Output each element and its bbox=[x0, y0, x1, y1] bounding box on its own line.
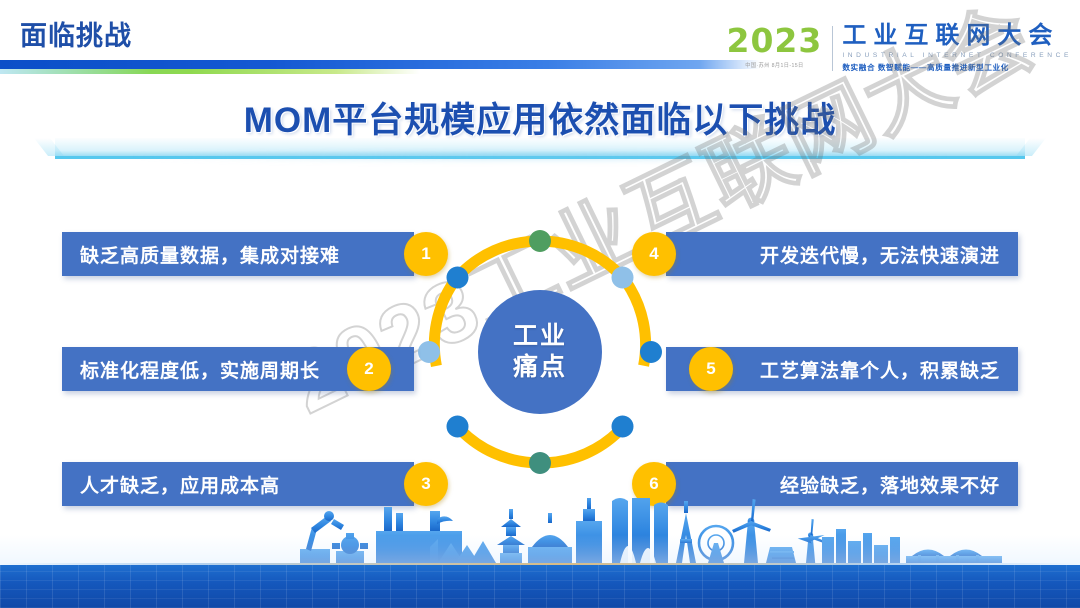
pain-point-number-1: 1 bbox=[404, 232, 448, 276]
header-rule-cyan bbox=[0, 69, 150, 74]
pain-point-label-2: 标准化程度低，实施周期长 bbox=[80, 356, 320, 383]
center-label-line1: 工业 bbox=[513, 321, 567, 352]
pain-point-number-4: 4 bbox=[632, 232, 676, 276]
section-title: 面临挑战 bbox=[20, 14, 132, 53]
ring-arc-6 bbox=[461, 241, 533, 273]
pain-point-bar-1[interactable]: 缺乏高质量数据，集成对接难 bbox=[62, 232, 414, 276]
page-title: MOM平台规模应用依然面临以下挑战 bbox=[0, 92, 1080, 143]
pain-point-label-5: 工艺算法靠个人，积累缺乏 bbox=[760, 356, 1000, 383]
ring-dot-bottom-green bbox=[529, 452, 551, 474]
pain-points-diagram: 工业 痛点 缺乏高质量数据，集成对接难 标准化程度低，实施周期长 人才缺乏，应用… bbox=[0, 180, 1080, 520]
header-rule-blue bbox=[0, 60, 760, 69]
logo-divider bbox=[832, 26, 833, 71]
pain-point-number-5: 5 bbox=[689, 347, 733, 391]
footer-graphic bbox=[0, 498, 1080, 608]
logo-year-subtext: 中国·苏州 8月1日-15日 bbox=[727, 62, 823, 69]
pain-point-number-2: 2 bbox=[347, 347, 391, 391]
pain-point-label-1: 缺乏高质量数据，集成对接难 bbox=[80, 241, 340, 268]
ring-dot-right-blue bbox=[640, 341, 662, 363]
ring-arc-3 bbox=[547, 431, 619, 463]
ring-arc-4 bbox=[461, 431, 532, 463]
logo-name-cn: 工业互联网大会 bbox=[842, 24, 1072, 48]
title-shelf-glow bbox=[120, 150, 960, 162]
pain-point-label-6: 经验缺乏，落地效果不好 bbox=[780, 471, 1000, 498]
slide: 面临挑战 2023 中国·苏州 8月1日-15日 工业互联网大会 INDUSTR… bbox=[0, 0, 1080, 608]
ring-dot-left-lightblue bbox=[418, 341, 440, 363]
industrial-skyline-icon bbox=[0, 498, 1080, 567]
ground-plane bbox=[0, 565, 1080, 608]
ring-dot-top-green bbox=[529, 230, 551, 252]
title-banner: MOM平台规模应用依然面临以下挑战 bbox=[0, 92, 1080, 170]
logo-year-block: 2023 中国·苏州 8月1日-15日 bbox=[727, 24, 833, 69]
pain-point-bar-4[interactable]: 开发迭代慢，无法快速演进 bbox=[666, 232, 1018, 276]
logo-name-en: INDUSTRIAL INTERNET CONFERENCE bbox=[842, 52, 1072, 59]
ring-dot-lower-right-blue bbox=[612, 416, 634, 438]
pain-point-label-3: 人才缺乏，应用成本高 bbox=[80, 471, 280, 498]
slide-header: 面临挑战 2023 中国·苏州 8月1日-15日 工业互联网大会 INDUSTR… bbox=[0, 0, 1080, 80]
logo-year: 2023 bbox=[727, 24, 823, 57]
logo-tagline: 数实融合 数智赋能——高质量推进新型工业化 bbox=[842, 62, 1072, 73]
ring-dot-upper-right-lightblue bbox=[612, 267, 634, 289]
ring-arc-1 bbox=[547, 241, 619, 273]
logo-name-block: 工业互联网大会 INDUSTRIAL INTERNET CONFERENCE 数… bbox=[842, 24, 1072, 73]
ground-grid-pattern bbox=[0, 565, 1080, 608]
ring-dot-lower-left-blue bbox=[447, 416, 469, 438]
conference-logo: 2023 中国·苏州 8月1日-15日 工业互联网大会 INDUSTRIAL I… bbox=[727, 24, 1073, 73]
center-circle: 工业 痛点 bbox=[478, 290, 602, 414]
center-label-line2: 痛点 bbox=[513, 352, 567, 383]
pain-point-label-4: 开发迭代慢，无法快速演进 bbox=[760, 241, 1000, 268]
ring-dot-upper-left-blue bbox=[447, 267, 469, 289]
